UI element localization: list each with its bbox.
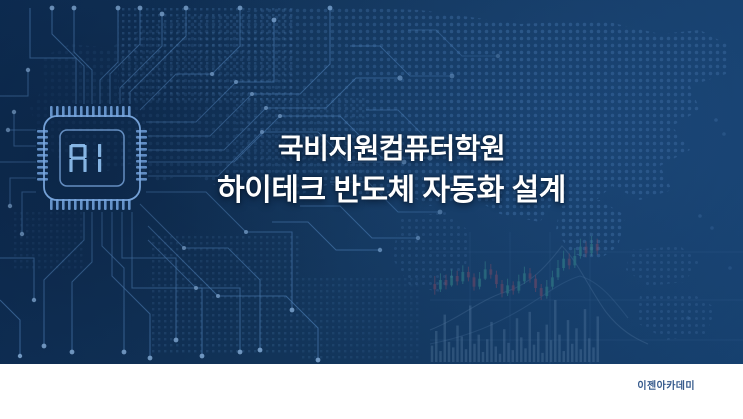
banner-stage: 국비지원컴퓨터학원 하이테크 반도체 자동화 설계 이젠아카데미: [0, 0, 743, 419]
footer-bar: 이젠아카데미: [0, 364, 743, 419]
title-line-2: 하이테크 반도체 자동화 설계: [40, 173, 743, 209]
brand-logo-text: 이젠아카데미: [637, 377, 695, 392]
page-title: 국비지원컴퓨터학원 하이테크 반도체 자동화 설계: [0, 132, 743, 209]
hero-banner: 국비지원컴퓨터학원 하이테크 반도체 자동화 설계: [0, 0, 743, 364]
title-line-1: 국비지원컴퓨터학원: [40, 132, 743, 166]
